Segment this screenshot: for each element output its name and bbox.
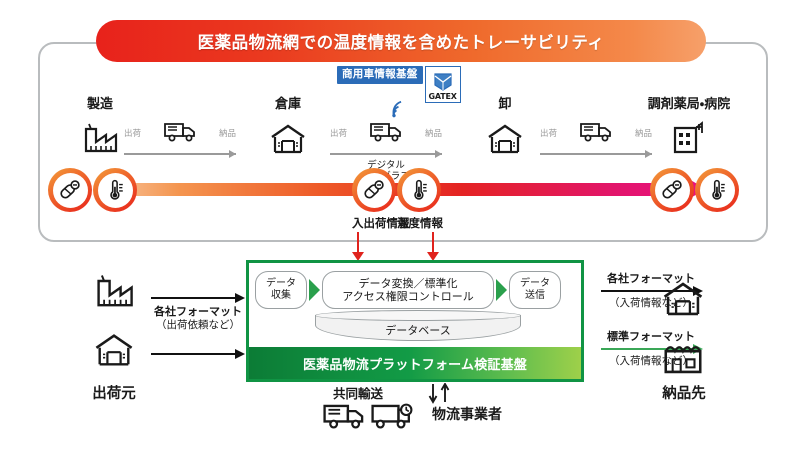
database-cylinder-top [315,310,521,321]
info-circle-caption-shipment: 入出荷情報 [352,215,397,231]
segment-arrow [330,149,442,159]
stage-transform-access: データ変換／標準化 アクセス権限コントロール [322,271,494,309]
chain-node-warehouse: 倉庫 [248,98,328,157]
flow-arrow-line [145,349,249,359]
gatex-logo-text: GATEX [428,92,456,101]
gatex-badge: 商用車情報基盤 GATEX [337,66,461,103]
data-feed-arrow-2 [427,232,439,261]
stage-transform-line1: データ変換／標準化 [342,277,473,290]
pill-icon [59,179,81,201]
chain-node-pharmacy-hospital: 調剤薬局・病院 [629,98,749,157]
info-circle-temperature [397,168,441,212]
segment-to-label: 納品 [219,127,236,139]
thermometer-icon [408,179,430,201]
truck-wifi-icon [369,120,403,146]
hospital-icon [629,115,749,157]
segment-from-label: 出荷 [330,127,347,139]
source-factory-icon [92,272,136,316]
source-format-top: 各社フォーマット [142,305,254,318]
info-circle-temperature [93,168,137,212]
pill-icon [363,179,385,201]
chain-node-wholesaler: 卸 [465,98,545,157]
source-format-bottom: （出荷依頼など） [142,319,254,332]
stage-transform-line2: アクセス権限コントロール [342,290,473,303]
pill-icon [661,179,683,201]
segment-to-label: 納品 [425,127,442,139]
segment-from-label: 出荷 [540,127,557,139]
transport-truck-clock-icon [370,400,414,434]
thermometer-icon [706,179,728,201]
chain-segment-1: 出荷 納品 [124,118,236,159]
chain-node-label: 調剤薬局・病院 [629,98,749,112]
info-circles-middle: 入出荷情報 温度情報 [352,168,442,231]
destination-warehouse-icon [660,278,706,324]
stage-data-send: データ 送信 [509,271,561,309]
platform-banner: 医薬品物流プラットフォーム検証基盤 [249,347,581,379]
logistics-operator-label: 物流事業者 [432,404,502,424]
destination-group-label: 納品先 [648,382,720,403]
page-title: 医薬品物流網での温度情報を含めたトレーサビリティ [96,20,706,62]
source-group-label: 出荷元 [78,382,150,403]
thermometer-icon [104,179,126,201]
chain-node-label: 製造 [60,98,140,112]
info-circles-right [650,168,739,212]
segment-from-label: 出荷 [124,127,141,139]
truck-icon [163,120,197,146]
chain-node-label: 倉庫 [248,98,328,112]
warehouse-icon [465,115,545,157]
platform-banner-text: 医薬品物流プラットフォーム検証基盤 [303,354,527,373]
gatex-label: 商用車情報基盤 [337,66,423,84]
destination-store-icon [660,336,706,382]
source-flow-arrow-2 [145,348,249,360]
source-flow-arrow-1 [145,292,249,304]
source-warehouse-icon [92,330,136,374]
gatex-logo: GATEX [425,66,461,103]
info-circle-caption-temperature: 温度情報 [397,215,442,231]
transport-truck-icon-1 [322,400,366,434]
info-circle-temperature [695,168,739,212]
source-format-label: 各社フォーマット （出荷依頼など） [142,305,254,332]
page-title-text: 医薬品物流網での温度情報を含めたトレーサビリティ [198,29,605,53]
logistics-platform: データ 収集 データ変換／標準化 アクセス権限コントロール データ 送信 データ… [246,260,584,382]
gatex-box-icon [432,72,454,92]
database-cylinder: データベース [315,315,521,345]
info-circle-shipment [352,168,396,212]
chevron-right-icon [496,279,507,301]
info-circle-shipment [650,168,694,212]
info-circle-shipment [48,168,92,212]
stage-data-collection: データ 収集 [255,271,307,309]
wifi-signal-icon [388,100,408,121]
chevron-right-icon [309,279,320,301]
data-feed-arrow-1 [352,232,364,261]
flow-arrow-line [145,293,249,303]
chain-node-label: 卸 [465,98,545,112]
truck-icon [579,120,613,146]
platform-inner: データ 収集 データ変換／標準化 アクセス権限コントロール データ 送信 データ… [249,263,581,347]
segment-arrow [124,149,236,159]
platform-stage-row: データ 収集 データ変換／標準化 アクセス権限コントロール データ 送信 [249,263,581,309]
info-circles-left [48,168,137,212]
warehouse-icon [248,115,328,157]
